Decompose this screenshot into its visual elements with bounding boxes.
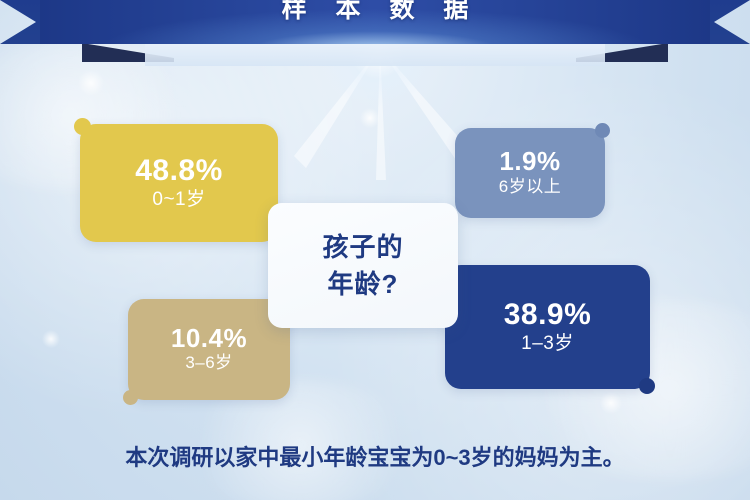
bubble-tail-dot — [123, 390, 138, 405]
bokeh-dot-4 — [42, 330, 60, 348]
ribbon-fold-right — [576, 43, 668, 62]
page-title: 样 本 数 据 — [40, 0, 710, 24]
summary-caption: 本次调研以家中最小年龄宝宝为0~3岁的妈妈为主。 — [0, 440, 750, 472]
segment-percent: 10.4% — [171, 324, 247, 353]
segment-card-age-1-3[interactable]: 38.9% 1–3岁 — [445, 265, 650, 389]
segment-percent: 1.9% — [499, 147, 560, 176]
header-ribbon: 样 本 数 据 — [0, 0, 750, 64]
ribbon-fold-left — [82, 43, 174, 62]
bokeh-dot-2 — [360, 108, 380, 128]
bubble-tail-dot — [639, 378, 655, 394]
bokeh-dot-3 — [600, 392, 622, 414]
ribbon-tail-right — [638, 0, 750, 44]
bubble-tail-dot — [595, 123, 610, 138]
question-line-2: 年龄? — [328, 266, 399, 303]
segment-label: 1–3岁 — [521, 331, 574, 357]
segment-label: 6岁以上 — [499, 176, 561, 199]
ribbon-band: 样 本 数 据 — [40, 0, 710, 44]
infographic-root: 样 本 数 据 48.8% 0~1岁 1.9% 6岁以上 38.9% 1–3岁 … — [0, 0, 750, 500]
segment-percent: 48.8% — [135, 154, 223, 187]
bubble-tail-dot — [74, 118, 91, 135]
segment-card-age-6-plus[interactable]: 1.9% 6岁以上 — [455, 128, 605, 218]
segment-percent: 38.9% — [504, 298, 592, 331]
ribbon-shelf — [145, 44, 605, 66]
bokeh-dot-1 — [78, 70, 104, 96]
question-line-1: 孩子的 — [322, 229, 403, 266]
ribbon-tail-left — [0, 0, 112, 44]
segment-card-age-3-6[interactable]: 10.4% 3–6岁 — [128, 299, 290, 400]
segment-card-age-0-1[interactable]: 48.8% 0~1岁 — [80, 124, 278, 242]
segment-label: 0~1岁 — [152, 187, 205, 213]
segment-label: 3–6岁 — [185, 352, 232, 375]
question-card: 孩子的 年龄? — [268, 203, 458, 328]
sun-glow — [318, 0, 438, 110]
